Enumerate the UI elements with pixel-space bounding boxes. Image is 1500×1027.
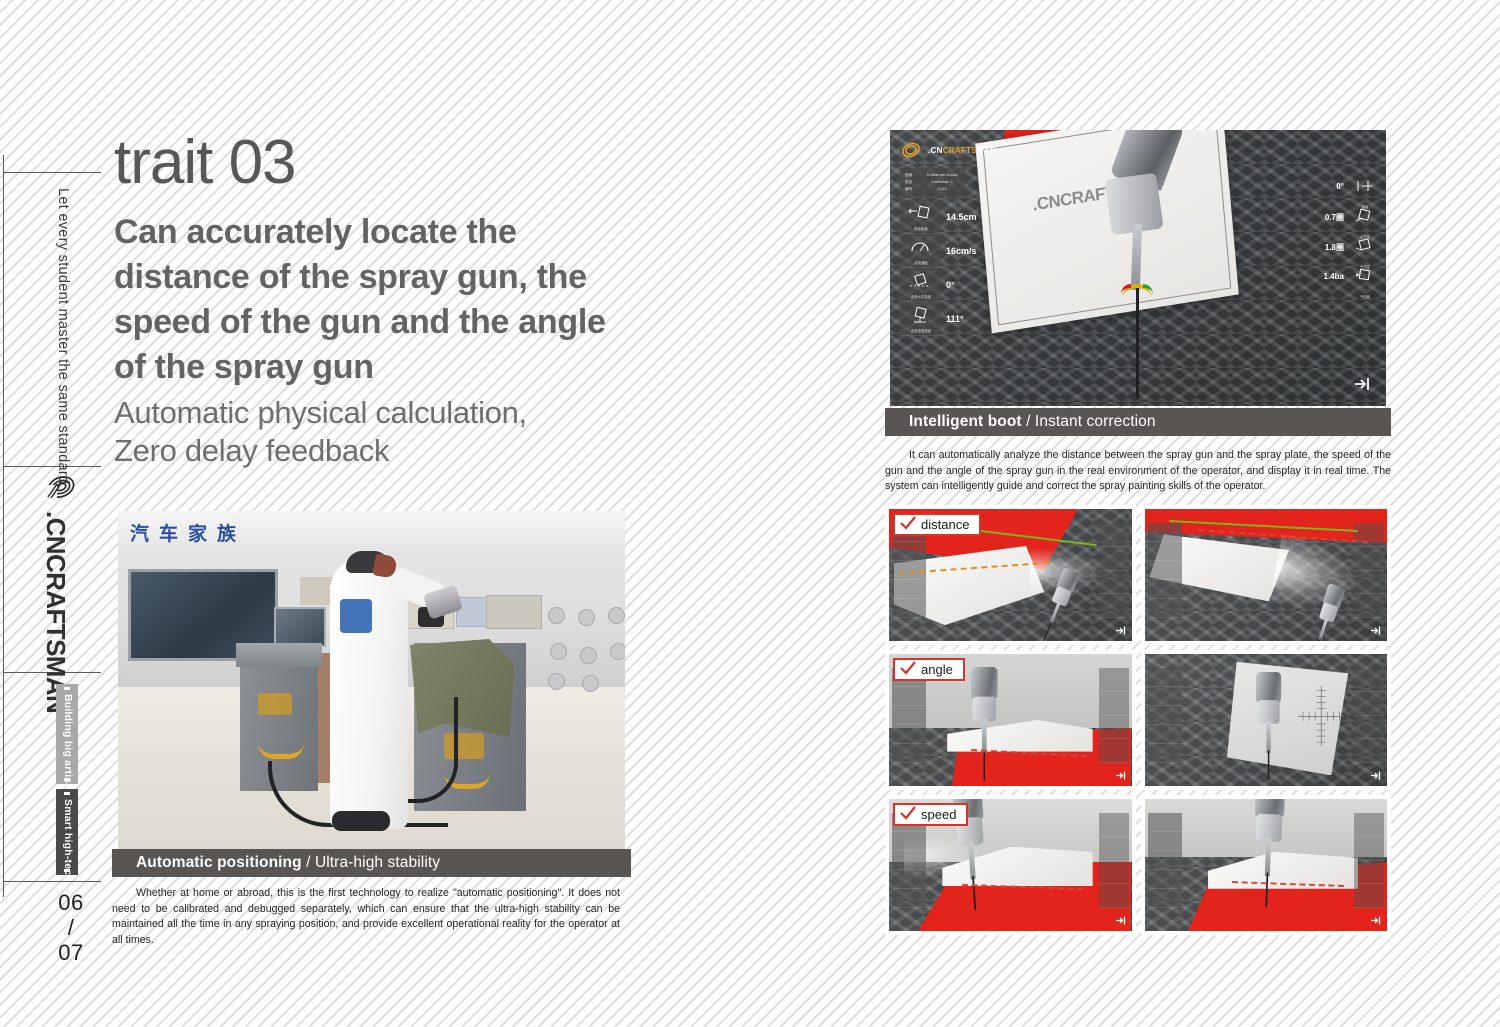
left-paragraph: Whether at home or abroad, this is the f… xyxy=(112,886,620,948)
vr-right-metric-label: 气压值 xyxy=(1352,294,1378,299)
checkmark-icon xyxy=(900,516,916,531)
checkmark-icon xyxy=(900,806,916,821)
air-icon xyxy=(1354,238,1376,254)
vr-metric-label: 喷涂距离 xyxy=(902,226,940,231)
sidebar-vertical-rule xyxy=(3,155,4,897)
vr-screenshot-frame: .CNCRAFTSMAN .CNCRAFTSMAN xyxy=(885,125,1391,411)
vr-metric-row: 走枪水平角度 xyxy=(900,268,942,302)
photo-wall-text: 汽车家族 xyxy=(130,519,246,546)
page-number-current: 06 xyxy=(50,890,92,915)
page-headline: Can accurately locate the distance of th… xyxy=(114,210,639,390)
panel-speed-right xyxy=(1141,795,1392,935)
vr-info-row: 班级 Craftsman Group xyxy=(904,172,962,179)
vr-metric-row: 走枪速度 xyxy=(900,234,942,268)
panel-distance-left: distance xyxy=(885,505,1136,645)
sidebar-divider-2 xyxy=(3,466,101,467)
vr-right-metric-value: 0° xyxy=(1336,182,1344,191)
mini-hud-right xyxy=(1099,668,1129,763)
left-caption-sep: / xyxy=(302,854,315,871)
vr-metric-label: 走枪垂直角度 xyxy=(902,328,940,333)
paint-icon xyxy=(1354,208,1376,224)
panel-tag-label: distance xyxy=(921,517,969,532)
vr-screenshot: .CNCRAFTSMAN .CNCRAFTSMAN xyxy=(890,130,1386,406)
trait-title: trait 03 xyxy=(114,130,639,196)
left-text-block: trait 03 Can accurately locate the dista… xyxy=(114,130,639,472)
panel-tag-label: speed xyxy=(921,807,956,822)
left-caption-light: Ultra-high stability xyxy=(315,854,440,871)
angle-v-icon xyxy=(908,307,932,323)
page-subhead-line2: Zero delay feedback xyxy=(114,430,639,472)
mini-hud-left xyxy=(1148,523,1182,618)
exit-arrow-icon[interactable] xyxy=(1369,914,1382,927)
vr-spray-gun xyxy=(1086,130,1196,336)
vr-info-key: 班级 xyxy=(904,172,922,179)
vr-metric-row: 走枪垂直角度 xyxy=(900,302,942,336)
exit-arrow-icon[interactable] xyxy=(1114,769,1127,782)
vr-right-metric-value: 1.4ba xyxy=(1324,272,1344,281)
exit-arrow-icon[interactable] xyxy=(1114,624,1127,637)
ruler-grid-icon xyxy=(1280,686,1362,747)
badge-building-big-artisans: Building big artisans xyxy=(56,684,78,784)
vr-metric-label: 走枪速度 xyxy=(902,260,940,265)
page-number-sep: / xyxy=(50,915,92,940)
vr-metric-label: 走枪水平角度 xyxy=(902,294,940,299)
mini-hud-left xyxy=(1148,668,1182,763)
vr-metric-value-angle-v: 111° xyxy=(946,314,964,324)
page-subhead-line1: Automatic physical calculation, xyxy=(114,392,639,434)
vr-right-metric-row: 0.7圈 出漆量 xyxy=(1344,206,1378,236)
panel-speed-left: speed xyxy=(885,795,1136,935)
panel-angle-right xyxy=(1141,650,1392,790)
vr-logo-text: .CNCRAFTSMAN xyxy=(928,146,996,155)
speed-icon xyxy=(908,239,932,255)
vr-metric-row: 喷涂距离 xyxy=(900,200,942,234)
exit-arrow-icon[interactable] xyxy=(1369,769,1382,782)
angle-h-icon xyxy=(908,273,932,289)
fan-icon xyxy=(1354,178,1376,194)
page-number: 06 / 07 xyxy=(50,890,92,965)
badge-smart-high-tech: Smart high-tech xyxy=(56,789,78,875)
vr-right-metric-row: 1.4ba 气压值 xyxy=(1344,266,1378,296)
mini-hud-right xyxy=(1099,813,1129,908)
sidebar-divider-1 xyxy=(3,172,101,173)
vr-right-metric-row: 0° 扇幅 xyxy=(1344,176,1378,206)
mini-hud-left xyxy=(892,668,926,763)
vr-panel-grid: distance angle xyxy=(885,505,1391,935)
left-caption-bar: Automatic positioning / Ultra-high stabi… xyxy=(112,849,631,877)
vr-metric-value-angle-h: 0° xyxy=(946,280,955,290)
vr-metric-value-distance: 14.5cm xyxy=(946,212,977,222)
vr-right-metrics-panel: 0° 扇幅 0.7圈 出漆量 1.8圈 出气量 1.4ba 气压值 xyxy=(1344,176,1378,296)
vr-brand-logo: .CNCRAFTSMAN xyxy=(900,140,996,160)
sidebar-divider-4 xyxy=(3,881,101,882)
panel-tag-label: angle xyxy=(921,662,953,677)
vr-info-key: 姓名 xyxy=(904,179,922,186)
panel-tag-angle: angle xyxy=(893,658,965,681)
exit-arrow-icon[interactable] xyxy=(1114,914,1127,927)
cncraftsman-logo-icon xyxy=(44,489,78,506)
brand-block: .CNCRAFTSMAN xyxy=(38,472,90,713)
right-paragraph: It can automatically analyze the distanc… xyxy=(885,448,1391,495)
vr-metric-value-speed: 16cm/s xyxy=(946,246,977,256)
cncraftsman-logo-icon xyxy=(900,140,922,160)
right-caption-bar: Intelligent boot / Instant correction xyxy=(885,408,1391,436)
panel-tag-speed: speed xyxy=(893,803,968,826)
panel-tag-distance: distance xyxy=(893,513,981,536)
exit-arrow-icon[interactable] xyxy=(1369,624,1382,637)
right-caption-light: Instant correction xyxy=(1035,413,1156,430)
distance-icon xyxy=(908,205,932,221)
panel-distance-right xyxy=(1141,505,1392,645)
vr-right-metric-value: 1.8圈 xyxy=(1325,242,1344,253)
sidebar: Let every student master the same standa… xyxy=(0,0,104,1027)
vr-metrics-panel: 喷涂距离 走枪速度 走枪水平角度 走枪垂直角度 xyxy=(900,200,942,336)
page-number-total: 07 xyxy=(50,940,92,965)
vr-info-value: Craftsman Group xyxy=(922,172,962,179)
checkmark-icon xyxy=(900,661,916,676)
vr-user-info-panel: 班级 Craftsman Group 姓名 Craftsman 1 编号 212… xyxy=(900,168,966,197)
pressure-icon xyxy=(1354,268,1376,284)
exit-arrow-icon[interactable] xyxy=(1352,374,1372,394)
mini-hud-left xyxy=(1148,813,1182,908)
vr-right-metric-row: 1.8圈 出气量 xyxy=(1344,236,1378,266)
brand-prefix: . xyxy=(41,511,71,518)
right-caption-bold: Intelligent boot xyxy=(909,413,1022,430)
sidebar-tagline: Let every student master the same standa… xyxy=(55,188,71,484)
mini-hud-left xyxy=(892,813,926,908)
vr-info-row: 姓名 Craftsman 1 xyxy=(904,179,962,186)
training-photo-frame: 汽车家族 xyxy=(112,505,631,855)
brand-name: .CNCRAFTSMAN xyxy=(40,511,71,713)
vr-info-value: 2123 xyxy=(922,186,962,193)
mini-hud-right xyxy=(1354,523,1384,618)
vr-info-value: Craftsman 1 xyxy=(922,179,962,186)
mini-hud-right xyxy=(1354,813,1384,908)
spray-booth-training-photo: 汽车家族 xyxy=(118,511,625,849)
vr-info-row: 编号 2123 xyxy=(904,186,962,193)
mini-hud-right xyxy=(1099,523,1129,618)
sidebar-badges: Building big artisans Smart high-tech xyxy=(56,684,82,875)
vr-info-key: 编号 xyxy=(904,186,922,193)
panel-angle-left: angle xyxy=(885,650,1136,790)
vr-right-metric-value: 0.7圈 xyxy=(1325,212,1344,223)
left-caption-bold: Automatic positioning xyxy=(136,854,302,871)
right-caption-sep: / xyxy=(1022,413,1035,430)
